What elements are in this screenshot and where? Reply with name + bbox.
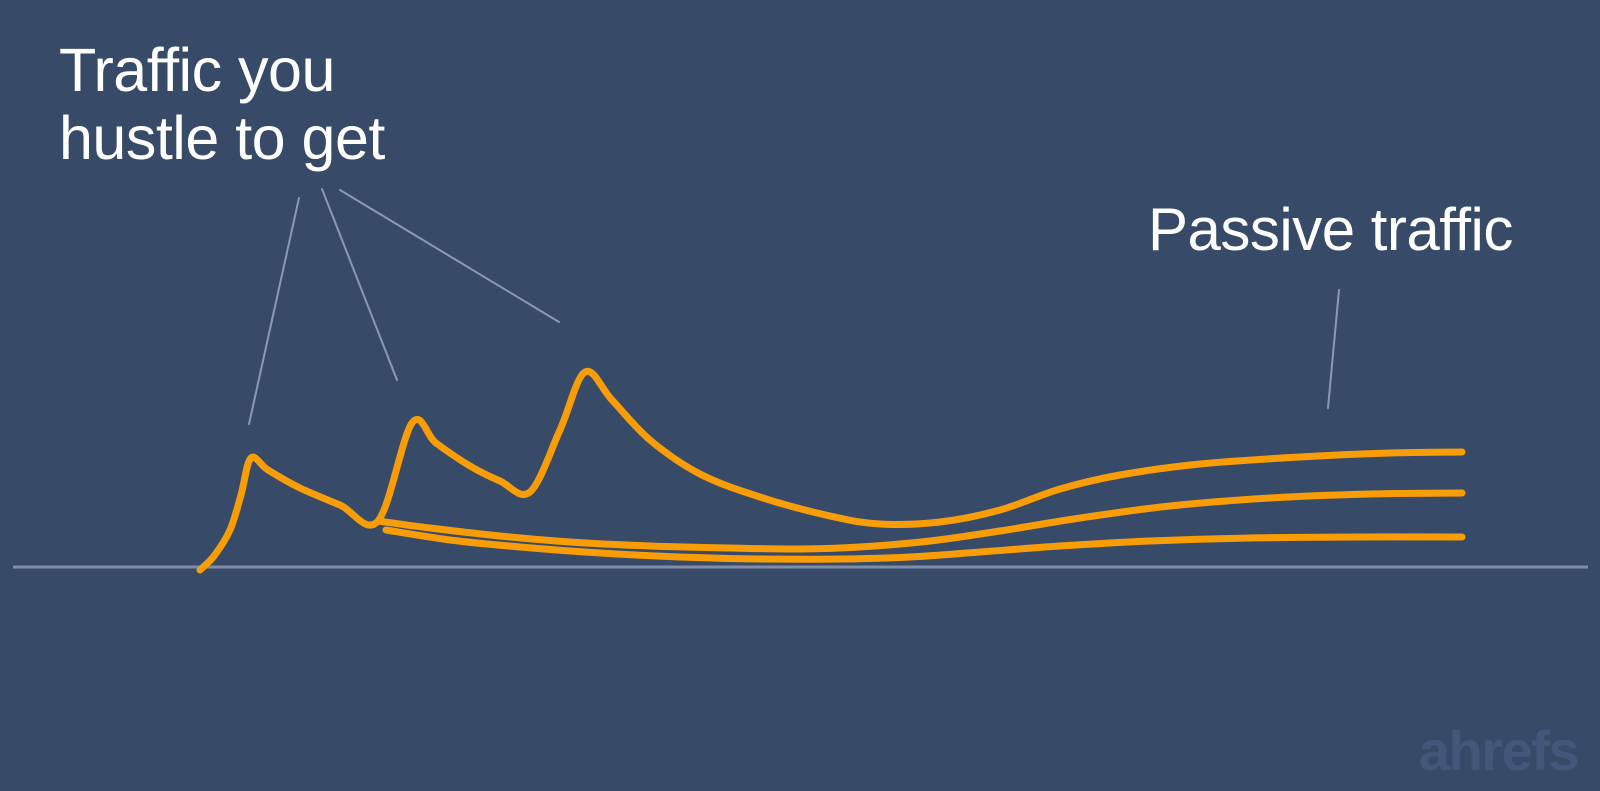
passive-traffic-label: Passive traffic [1148, 196, 1513, 263]
leader-line-spike-3 [340, 190, 559, 322]
traffic-curves-group [200, 371, 1462, 570]
illustration-canvas: Traffic you hustle to get Passive traffi… [0, 0, 1600, 791]
ahrefs-logo: ahrefs [1419, 718, 1578, 783]
traffic-you-hustle-to-get-label: Traffic you hustle to get [59, 36, 385, 173]
leader-line-spike-1 [249, 198, 299, 424]
leader-line-passive [1328, 290, 1339, 408]
